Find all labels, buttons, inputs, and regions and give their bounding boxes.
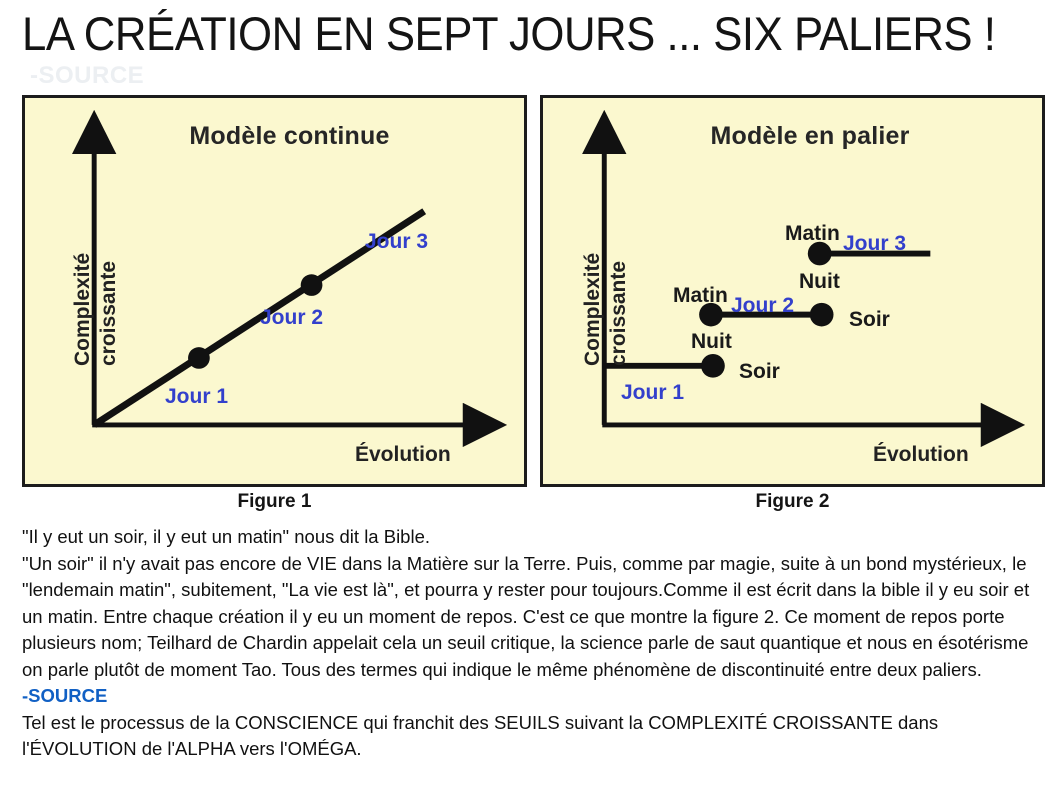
figure-2-day-label-2: Jour 2 (731, 294, 794, 318)
figure-1-day-label-3: Jour 3 (365, 230, 428, 254)
figure-2-day-label-1: Jour 1 (621, 381, 684, 405)
figure-1-x-axis-label: Évolution (355, 443, 451, 467)
transition-dot-2 (301, 274, 323, 296)
soir-dot-1 (701, 354, 725, 378)
figure-2-y-axis-label-primary: Complexité (581, 253, 605, 366)
figure-2-x-axis-label: Évolution (873, 443, 969, 467)
figure-2-panel: Modèle en palier Complexité croissante É… (540, 95, 1045, 487)
figure-2-soir-label-1: Soir (739, 360, 780, 384)
figure-2-nuit-label-1: Nuit (691, 330, 732, 354)
figure-1-caption: Figure 1 (22, 491, 527, 513)
figure-1-y-axis-label-primary: Complexité (71, 253, 95, 366)
article-body: "Il y eut un soir, il y eut un matin" no… (22, 524, 1032, 763)
figure-1-day-label-2: Jour 2 (260, 306, 323, 330)
figure-2-title: Modèle en palier (543, 122, 1042, 151)
title-watermark: -SOURCE (30, 62, 144, 90)
figure-2-soir-label-2: Soir (849, 308, 890, 332)
figure-2-matin-label-2: Matin (785, 222, 840, 246)
figure-1-panel: Modèle continue Complexité croissante Év… (22, 95, 527, 487)
figure-2-caption: Figure 2 (540, 491, 1045, 513)
body-paragraph-2: "Un soir" il n'y avait pas encore de VIE… (22, 551, 1032, 684)
figure-2-y-axis-label-secondary: croissante (607, 261, 631, 366)
figure-2-matin-label-1: Matin (673, 284, 728, 308)
source-label: -SOURCE (22, 683, 1032, 710)
figure-2-nuit-label-2: Nuit (799, 270, 840, 294)
body-closing-paragraph: Tel est le processus de la CONSCIENCE qu… (22, 710, 1032, 763)
soir-dot-2 (810, 303, 834, 327)
figure-1-day-label-1: Jour 1 (165, 385, 228, 409)
body-paragraph-1: "Il y eut un soir, il y eut un matin" no… (22, 524, 1032, 551)
figure-1-y-axis-label-secondary: croissante (97, 261, 121, 366)
transition-dot-1 (188, 347, 210, 369)
figure-1-title: Modèle continue (25, 122, 524, 151)
page-title: LA CRÉATION EN SEPT JOURS ... SIX PALIER… (22, 6, 963, 62)
figure-2-day-label-3: Jour 3 (843, 232, 906, 256)
